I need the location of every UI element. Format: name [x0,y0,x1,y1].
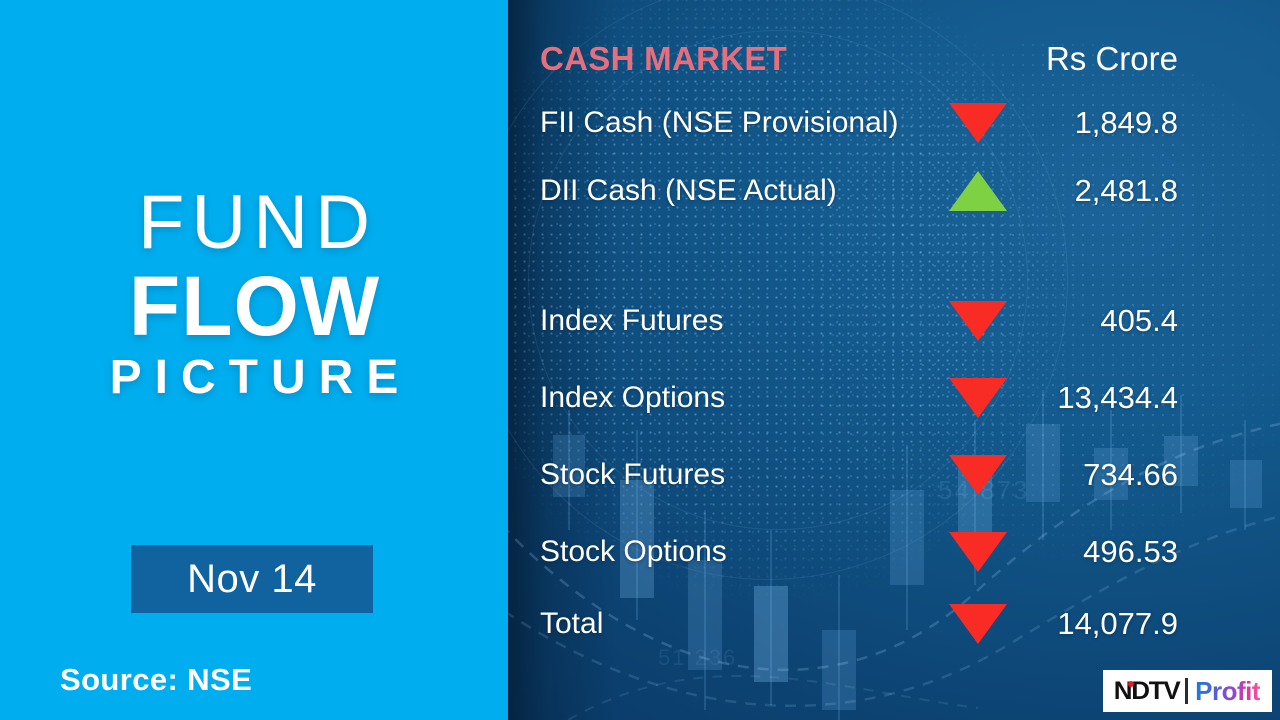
row-value: 2,481.8 [1075,173,1178,209]
table-row: Total 14,077.9 [508,598,1280,650]
table-row: Stock Futures 734.66 [508,449,1280,501]
arrow-down-icon [949,604,1007,644]
arrow-down-icon [949,532,1007,572]
row-value: 496.53 [1083,534,1178,570]
brand-title: FUND FLOW PICTURE [0,183,508,407]
table-row: DII Cash (NSE Actual) 2,481.8 [508,165,1280,217]
brand-line-picture: PICTURE [0,349,508,407]
row-value: 14,077.9 [1057,606,1178,642]
source-label: Source: NSE [60,662,252,698]
logo-profit-text: Profit [1195,676,1260,707]
row-value: 734.66 [1083,457,1178,493]
row-label: Total [540,607,603,641]
brand-line-flow: FLOW [0,263,508,349]
brand-line-fund: FUND [0,183,508,263]
logo-ndtv-text: NDTV [1114,677,1180,706]
arrow-down-icon [949,378,1007,418]
row-value: 1,849.8 [1075,105,1178,141]
row-label: Index Futures [540,304,723,338]
direction-indicator [938,378,1018,418]
arrow-down-icon [949,301,1007,341]
row-label: FII Cash (NSE Provisional) [540,106,898,140]
table-row: Index Futures 405.4 [508,295,1280,347]
broadcast-graphic: FUND FLOW PICTURE Nov 14 Source: NSE [0,0,1280,720]
arrow-down-icon [949,103,1007,143]
table-row: Index Options 13,434.4 [508,372,1280,424]
arrow-up-icon [949,171,1007,211]
left-title-panel: FUND FLOW PICTURE Nov 14 Source: NSE [0,0,508,720]
direction-indicator [938,455,1018,495]
logo-red-dot-icon [1128,681,1134,687]
table-row: FII Cash (NSE Provisional) 1,849.8 [508,97,1280,149]
table-row: Stock Options 496.53 [508,526,1280,578]
direction-indicator [938,171,1018,211]
direction-indicator [938,301,1018,341]
direction-indicator [938,532,1018,572]
ndtv-profit-logo: NDTV Profit [1103,670,1272,712]
date-badge: Nov 14 [131,545,373,613]
arrow-down-icon [949,455,1007,495]
row-value: 13,434.4 [1057,380,1178,416]
direction-indicator [938,103,1018,143]
row-label: Stock Options [540,535,727,569]
logo-divider [1185,678,1188,704]
row-label: Index Options [540,381,725,415]
data-panel: 54 873 51 236 CASH MARKET Rs Crore FII C… [508,0,1280,720]
row-label: DII Cash (NSE Actual) [540,174,837,208]
row-label: Stock Futures [540,458,725,492]
row-value: 405.4 [1100,303,1178,339]
fund-flow-table: FII Cash (NSE Provisional) 1,849.8 DII C… [508,0,1280,720]
direction-indicator [938,604,1018,644]
